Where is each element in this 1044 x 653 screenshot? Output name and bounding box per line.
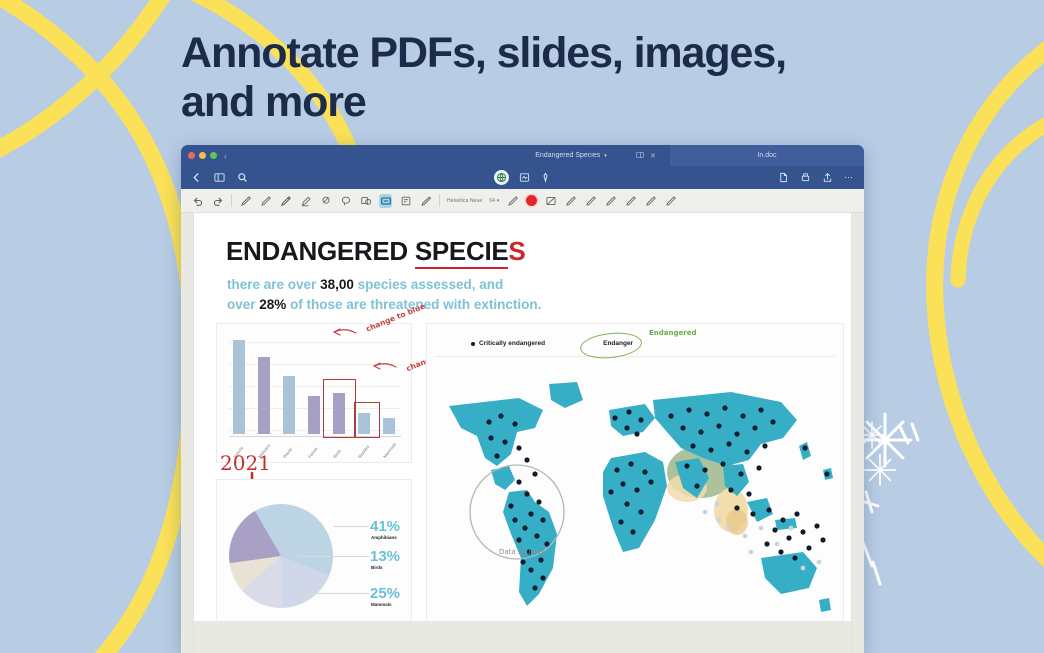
marker-icon[interactable] <box>279 194 292 208</box>
chevron-down-icon[interactable]: ▾ <box>604 153 607 159</box>
bar-molluscs <box>258 357 270 434</box>
legend-dot-icon <box>471 342 475 346</box>
app-window: ‹ Endangered Species ▾ ✕ In.doc <box>181 145 864 653</box>
pie-pct-amphibians: 41% <box>370 518 400 535</box>
tab-label: Endangered Species <box>535 152 600 159</box>
text-color-pen-icon[interactable] <box>506 194 519 208</box>
pen-thin-icon[interactable] <box>259 194 272 208</box>
document-heading: ENDANGERED SPECIES <box>226 236 525 267</box>
note-icon[interactable] <box>399 194 412 208</box>
pie-leader-line <box>297 556 369 557</box>
shapes-icon[interactable] <box>359 194 372 208</box>
pie-leader-line <box>295 593 369 594</box>
font-size-value: 64 <box>489 198 495 204</box>
pie-label-birds: Birds <box>371 565 383 570</box>
pie-label-mammals: Mammals <box>371 602 392 607</box>
pen-icon[interactable] <box>539 172 551 184</box>
chevron-down-icon[interactable]: ▾ <box>497 198 500 204</box>
tab-second-document[interactable]: In.doc <box>670 145 864 166</box>
close-window-button[interactable] <box>188 152 195 159</box>
bar-xlabel: Mammals <box>382 442 397 459</box>
window-titlebar: ‹ Endangered Species ▾ ✕ In.doc <box>181 145 864 166</box>
font-family-select[interactable]: Helvetica Neue <box>447 198 482 204</box>
pen-color-1-icon[interactable] <box>564 194 577 208</box>
active-color-swatch-red[interactable] <box>526 195 537 206</box>
traffic-lights[interactable] <box>188 152 217 159</box>
pie-pct-birds: 13% <box>370 548 400 565</box>
split-view-icon[interactable] <box>636 151 644 161</box>
titlebar-back-icon[interactable]: ‹ <box>224 151 227 161</box>
page-scroll-strip[interactable] <box>194 621 851 653</box>
pie-leader-line <box>333 526 369 527</box>
redo-icon[interactable] <box>211 194 224 208</box>
bar-mammals <box>383 418 395 434</box>
bar-xlabel: Fishes <box>307 446 319 459</box>
world-map <box>431 362 841 652</box>
pen-color-4-icon[interactable] <box>624 194 637 208</box>
signature-icon[interactable] <box>419 194 432 208</box>
close-tab-icon[interactable]: ✕ <box>650 152 656 160</box>
markup-icon[interactable] <box>518 172 530 184</box>
heading-underlined: SPECIE <box>415 236 509 269</box>
subtitle-line2: over 28% of those are threatened with ex… <box>227 297 541 312</box>
bar-plants <box>283 376 295 434</box>
pen-color-3-icon[interactable] <box>604 194 617 208</box>
document-subtitle: there are over 38,00 species assessed, a… <box>227 275 541 315</box>
tab-label: In.doc <box>757 152 776 159</box>
page-title: Annotate PDFs, slides, images, and more <box>181 29 861 127</box>
map-card[interactable]: Critically endangered Endanger Endangere… <box>426 323 844 653</box>
minimize-window-button[interactable] <box>199 152 206 159</box>
lasso-icon[interactable] <box>339 194 352 208</box>
heading-plain: ENDANGERED <box>226 236 415 266</box>
legend-label: Critically endangered <box>479 340 545 347</box>
annotation-data-sources[interactable]: Data sources <box>499 548 545 556</box>
legend-divider <box>435 356 835 357</box>
bar-insects <box>233 340 245 434</box>
no-fill-icon[interactable] <box>544 194 557 208</box>
tab-controls[interactable]: ✕ <box>636 151 656 161</box>
globe-icon[interactable] <box>494 170 509 185</box>
heading-red-letter: S <box>508 236 525 266</box>
annotation-endangered-green[interactable]: Endangered <box>649 329 696 337</box>
pen-color-5-icon[interactable] <box>644 194 657 208</box>
zoom-window-button[interactable] <box>210 152 217 159</box>
toolbar-divider <box>231 194 232 207</box>
pen-icon[interactable] <box>239 194 252 208</box>
highlighter-icon[interactable] <box>299 194 312 208</box>
pie-pct-mammals: 25% <box>370 585 400 602</box>
annotation-toolbar: Helvetica Neue 64 ▾ <box>181 189 864 213</box>
annotation-rect-purple[interactable] <box>354 402 380 438</box>
pie-label-amphibians: Amphibians <box>371 535 397 540</box>
undo-icon[interactable] <box>191 194 204 208</box>
bar-xlabel: Birds <box>332 448 342 459</box>
window-toolbar: ⋯ <box>181 166 864 189</box>
bar-fishes <box>308 396 320 434</box>
toolbar-divider <box>439 194 440 207</box>
eraser-icon[interactable] <box>319 194 332 208</box>
document-page[interactable]: ENDANGERED SPECIES there are over 38,00 … <box>194 213 851 653</box>
subtitle-line1: there are over 38,00 species assessed, a… <box>227 277 503 292</box>
tab-endangered-species[interactable]: Endangered Species ▾ <box>481 145 661 166</box>
textbox-icon[interactable] <box>379 194 392 208</box>
bar-xlabel: Reptiles <box>357 444 370 459</box>
legend-critically-endangered: Critically endangered <box>471 340 545 347</box>
pen-color-2-icon[interactable] <box>584 194 597 208</box>
font-size-select[interactable]: 64 ▾ <box>489 198 499 204</box>
bar-xlabel: Plants <box>282 447 293 459</box>
pen-color-6-icon[interactable] <box>664 194 677 208</box>
